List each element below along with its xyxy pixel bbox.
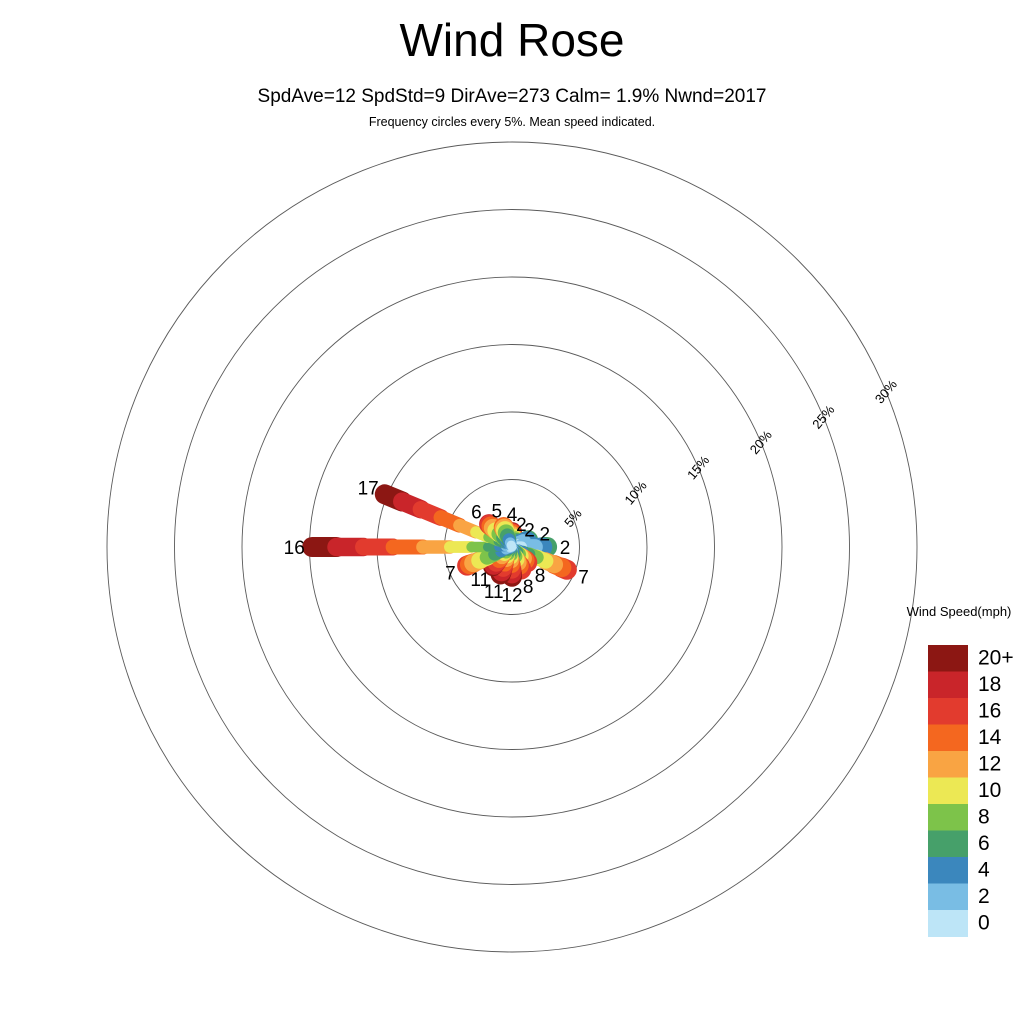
petal-mean-speed-label: 2	[560, 538, 571, 559]
petal-segment	[511, 545, 512, 547]
wind-petal	[504, 527, 512, 547]
ring-label: 30%	[872, 377, 900, 407]
stats-subtitle: SpdAve=12 SpdStd=9 DirAve=273 Calm= 1.9%…	[258, 86, 767, 107]
legend-tick-label: 6	[978, 832, 990, 855]
frequency-note: Frequency circles every 5%. Mean speed i…	[369, 115, 655, 129]
petal-mean-speed-label: 6	[471, 502, 482, 523]
legend-tick-label: 18	[978, 673, 1001, 696]
legend-tick-label: 10	[978, 779, 1001, 802]
petal-mean-speed-label: 12	[501, 586, 522, 607]
page-title: Wind Rose	[400, 14, 625, 66]
legend-tick-label: 8	[978, 806, 990, 829]
petal-mean-speed-label: 8	[523, 577, 534, 598]
legend-swatch	[928, 831, 968, 858]
petal-mean-speed-label: 8	[535, 566, 546, 587]
ring-label: 25%	[809, 402, 837, 432]
petal-mean-speed-label: 16	[284, 538, 305, 559]
petal-mean-speed-label: 17	[358, 478, 379, 499]
wind-rose-figure: Wind Rose SpdAve=12 SpdStd=9 DirAve=273 …	[0, 0, 1024, 1024]
petal-mean-speed-label: 7	[445, 563, 456, 584]
legend-tick-label: 12	[978, 753, 1001, 776]
legend-swatch	[928, 804, 968, 831]
legend-tick-label: 16	[978, 700, 1001, 723]
legend-colorbar: 20+181614121086420	[928, 645, 1014, 937]
petal-mean-speed-label: 2	[524, 520, 535, 541]
petal-mean-speed-label: 2	[540, 524, 551, 545]
legend-tick-label: 14	[978, 726, 1002, 749]
legend-swatch	[928, 645, 968, 672]
petal-mean-speed-label: 11	[470, 570, 490, 591]
ring-label: 10%	[621, 478, 649, 508]
legend-swatch	[928, 672, 968, 699]
legend-tick-label: 4	[978, 859, 990, 882]
legend-tick-label: 20+	[978, 647, 1014, 670]
legend-swatch	[928, 725, 968, 752]
legend-swatch	[928, 910, 968, 937]
legend-swatch	[928, 778, 968, 805]
legend-swatch	[928, 698, 968, 725]
ring-label: 15%	[684, 452, 712, 482]
legend-title: Wind Speed(mph)	[907, 604, 1012, 619]
legend-swatch	[928, 884, 968, 911]
legend-swatch	[928, 857, 968, 884]
petal-mean-speed-label: 5	[492, 501, 503, 522]
ring-label: 5%	[561, 506, 585, 530]
wind-rose-svg: Wind Rose SpdAve=12 SpdStd=9 DirAve=273 …	[0, 0, 1024, 1024]
ring-labels: 5%10%15%20%25%30%	[561, 377, 900, 531]
legend-tick-label: 2	[978, 885, 990, 908]
ring-label: 20%	[747, 427, 775, 457]
legend-swatch	[928, 751, 968, 778]
legend-tick-label: 0	[978, 912, 990, 935]
petal-mean-speed-label: 7	[578, 568, 589, 589]
